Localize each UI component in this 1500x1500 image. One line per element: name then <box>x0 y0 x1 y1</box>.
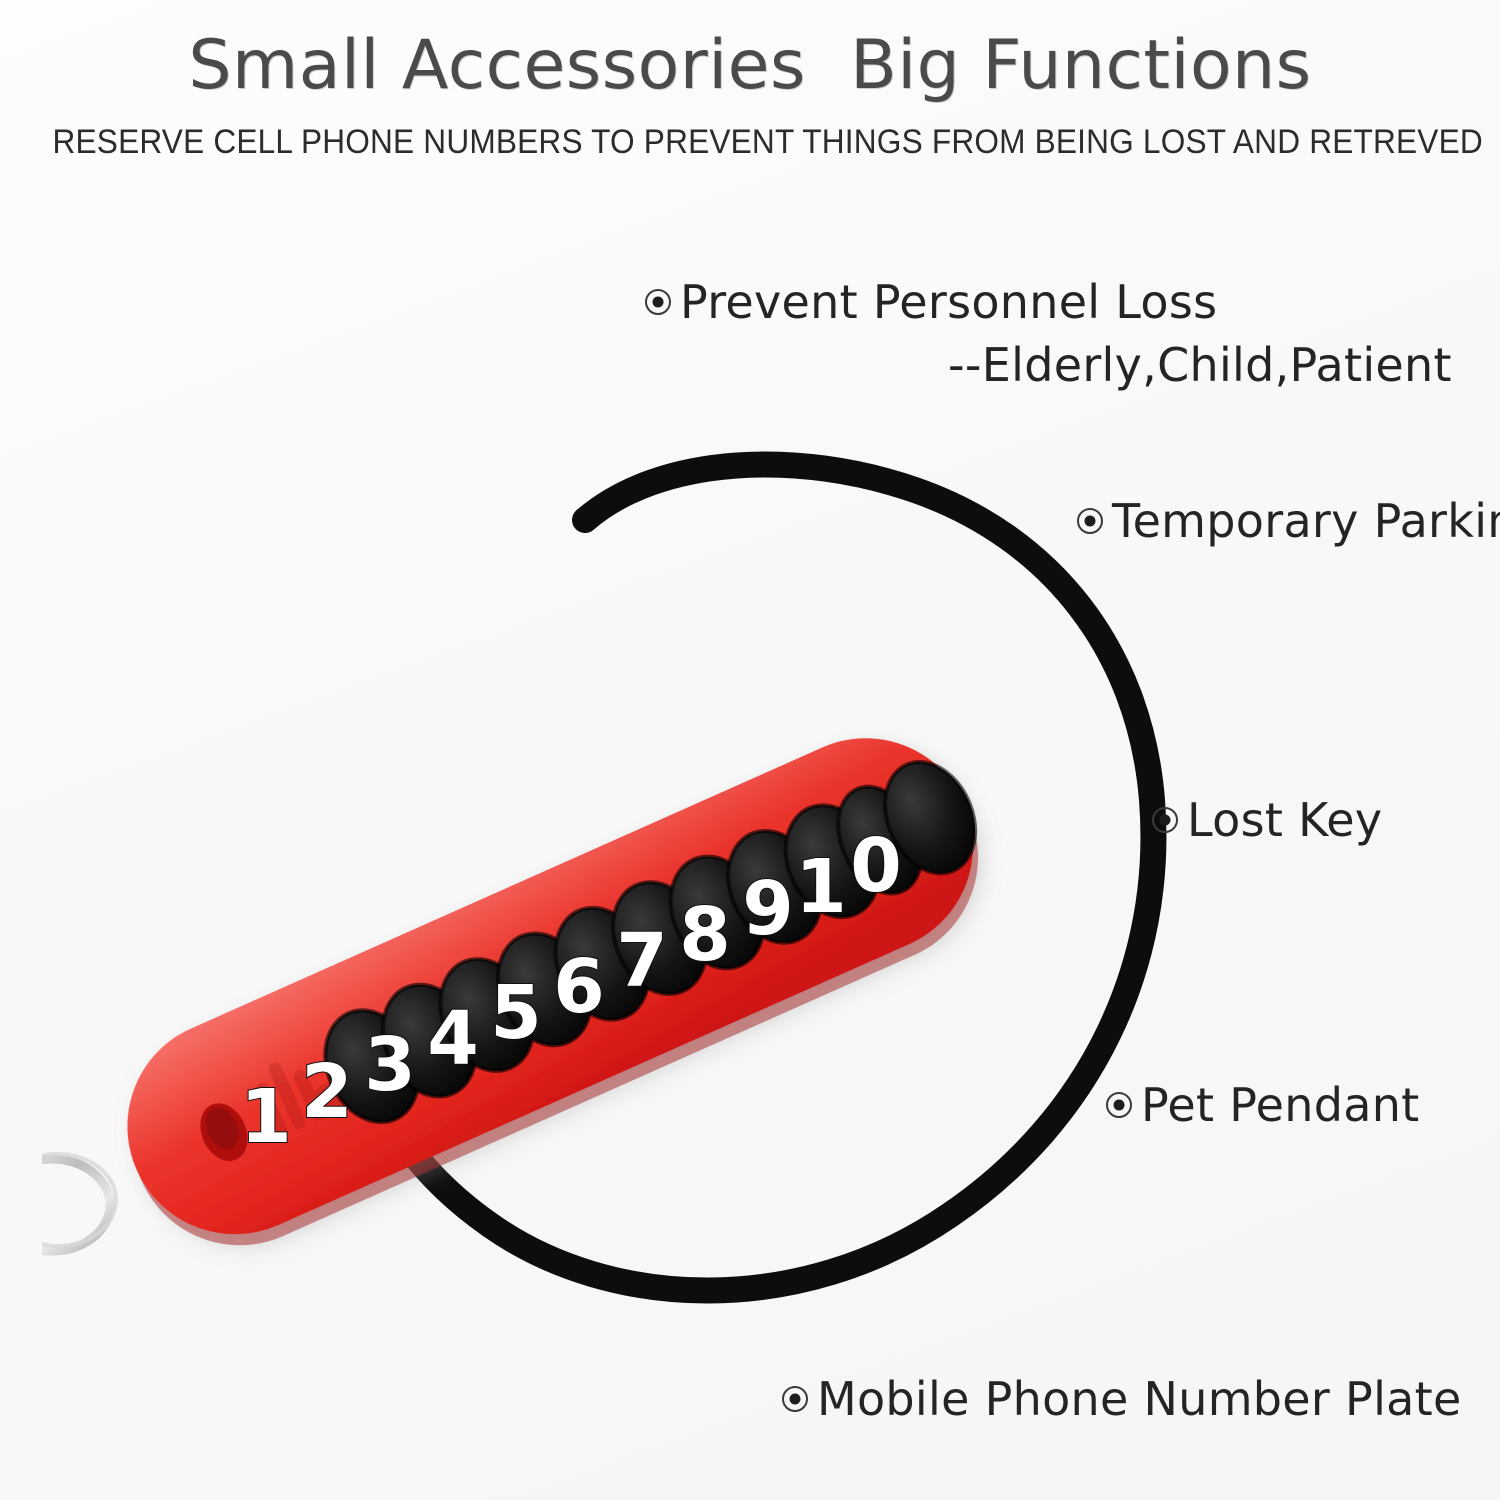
feature-label: Prevent Personnel Loss <box>680 275 1217 329</box>
dial-digit: 1 <box>795 844 847 930</box>
feature-label: Mobile Phone Number Plate <box>817 1372 1462 1426</box>
circled-dot-icon <box>1077 508 1103 534</box>
key-tag-illustration: 1 2 3 4 5 6 7 8 9 1 0 <box>42 700 1052 1270</box>
dial-digit: 5 <box>490 970 542 1056</box>
circled-dot-icon <box>645 289 671 315</box>
feature-label: Pet Pendant <box>1141 1078 1420 1132</box>
dial-digit: 4 <box>427 996 479 1082</box>
circled-dot-icon <box>1106 1092 1132 1118</box>
dial-digit: 1 <box>240 1074 292 1160</box>
header: Small Accessories Big Functions RESERVE … <box>0 0 1500 162</box>
split-key-ring <box>42 1154 116 1251</box>
product-photo-phone-number-key-tag: 1 2 3 4 5 6 7 8 9 1 0 <box>42 700 1052 1270</box>
feature-label: Lost Key <box>1187 793 1382 847</box>
page-subtitle: RESERVE CELL PHONE NUMBERS TO PREVENT TH… <box>53 101 1448 162</box>
feature-label: Temporary Parking <box>1112 494 1500 548</box>
dial-digit: 2 <box>301 1049 353 1135</box>
circled-dot-icon <box>782 1386 808 1412</box>
feature-item-prevent-personnel-loss[interactable]: Prevent Personnel Loss <box>645 275 1217 329</box>
feature-subnote-elderly-child-patient: --Elderly,Child,Patient <box>948 338 1452 392</box>
dial-digit: 3 <box>364 1022 416 1108</box>
dial-digit: 8 <box>679 892 731 978</box>
feature-item-pet-pendant[interactable]: Pet Pendant <box>1106 1078 1420 1132</box>
dial-digit: 0 <box>850 823 902 909</box>
circled-dot-icon <box>1152 807 1178 833</box>
dial-digit: 9 <box>742 866 794 952</box>
feature-item-lost-key[interactable]: Lost Key <box>1152 793 1382 847</box>
dial-digit: 7 <box>616 918 668 1004</box>
feature-item-temporary-parking[interactable]: Temporary Parking <box>1077 494 1500 548</box>
feature-item-mobile-phone-number-plate[interactable]: Mobile Phone Number Plate <box>782 1372 1462 1426</box>
infographic-canvas: Small Accessories Big Functions RESERVE … <box>0 0 1500 1500</box>
dial-digit: 6 <box>553 944 605 1030</box>
page-title: Small Accessories Big Functions <box>0 0 1500 101</box>
